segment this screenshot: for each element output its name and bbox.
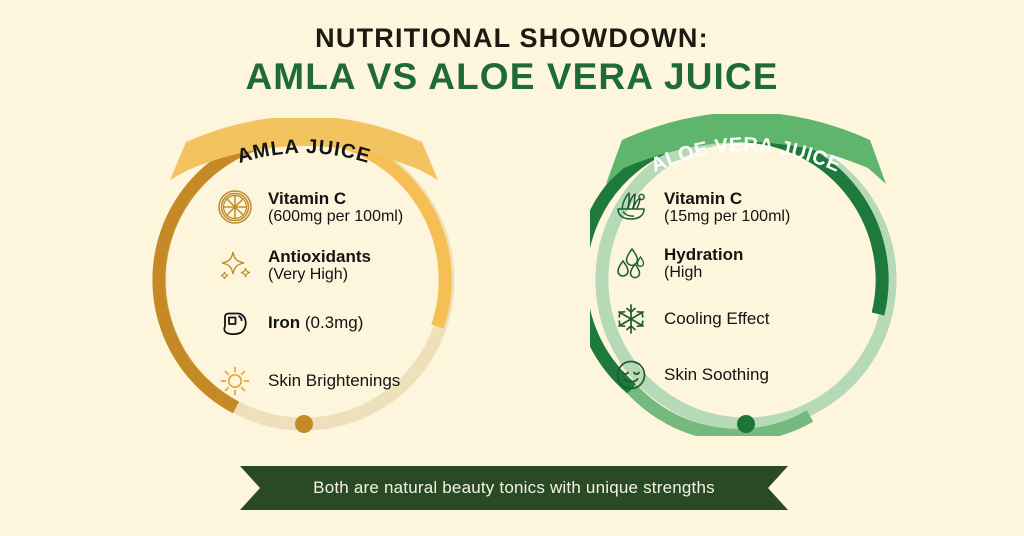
- feature-skin-soothing-aloe: Skin Soothing: [610, 354, 845, 396]
- feature-vitamin-c-aloe: Vitamin C (15mg per 100ml): [610, 186, 845, 228]
- feature-skin-brightening-amla: Skin Brightenings: [214, 360, 444, 402]
- ring-marker-dot: [737, 415, 755, 433]
- feature-text: Vitamin C (15mg per 100ml): [664, 189, 790, 226]
- sun-icon: [214, 360, 256, 402]
- feature-title: Hydration: [664, 245, 743, 264]
- smiling-face-icon: [610, 354, 652, 396]
- feature-subtitle: (15mg per 100ml): [664, 208, 790, 226]
- amla-feature-list: Vitamin C (600mg per 100ml) Antioxidants…: [214, 186, 444, 402]
- water-drops-icon: [610, 242, 652, 284]
- flexed-biceps-icon: [214, 302, 256, 344]
- feature-title: Iron: [268, 313, 300, 332]
- feature-subtitle: (Very High): [268, 266, 371, 284]
- feature-title: Skin Soothing: [664, 365, 769, 385]
- feature-title: Antioxidants: [268, 247, 371, 266]
- feature-text: Antioxidants (Very High): [268, 247, 371, 284]
- feature-text: Vitamin C (600mg per 100ml): [268, 189, 403, 226]
- feature-title: Vitamin C: [664, 189, 790, 208]
- feature-text: Iron (0.3mg): [268, 313, 363, 333]
- footer-ribbon: Both are natural beauty tonics with uniq…: [240, 466, 788, 510]
- footer-text: Both are natural beauty tonics with uniq…: [240, 466, 788, 510]
- citrus-slice-icon: [214, 186, 256, 228]
- feature-hydration-aloe: Hydration (High: [610, 242, 845, 284]
- aloe-feature-list: Vitamin C (15mg per 100ml) Hydration (Hi…: [610, 186, 845, 396]
- feature-iron-amla: Iron (0.3mg): [214, 302, 444, 344]
- feature-antioxidants-amla: Antioxidants (Very High): [214, 244, 444, 286]
- snowflake-icon: [610, 298, 652, 340]
- feature-subtitle: (0.3mg): [305, 313, 364, 332]
- feature-cooling-effect-aloe: Cooling Effect: [610, 298, 845, 340]
- infographic-canvas: NUTRITIONAL SHOWDOWN: AMLA VS ALOE VERA …: [0, 0, 1024, 536]
- feature-subtitle: (600mg per 100ml): [268, 208, 403, 226]
- ring-marker-dot: [295, 415, 313, 433]
- sparkles-icon: [214, 244, 256, 286]
- feature-title: Vitamin C: [268, 189, 403, 208]
- feature-subtitle: (High: [664, 264, 743, 282]
- feature-text: Hydration (High: [664, 245, 743, 282]
- feature-vitamin-c-amla: Vitamin C (600mg per 100ml): [214, 186, 444, 228]
- feature-title: Skin Brightenings: [268, 371, 400, 391]
- page-title: NUTRITIONAL SHOWDOWN: AMLA VS ALOE VERA …: [0, 24, 1024, 99]
- feature-title: Cooling Effect: [664, 309, 770, 329]
- title-line-2: AMLA VS ALOE VERA JUICE: [0, 56, 1024, 99]
- aloe-bowl-icon: [610, 186, 652, 228]
- title-line-1: NUTRITIONAL SHOWDOWN:: [0, 24, 1024, 52]
